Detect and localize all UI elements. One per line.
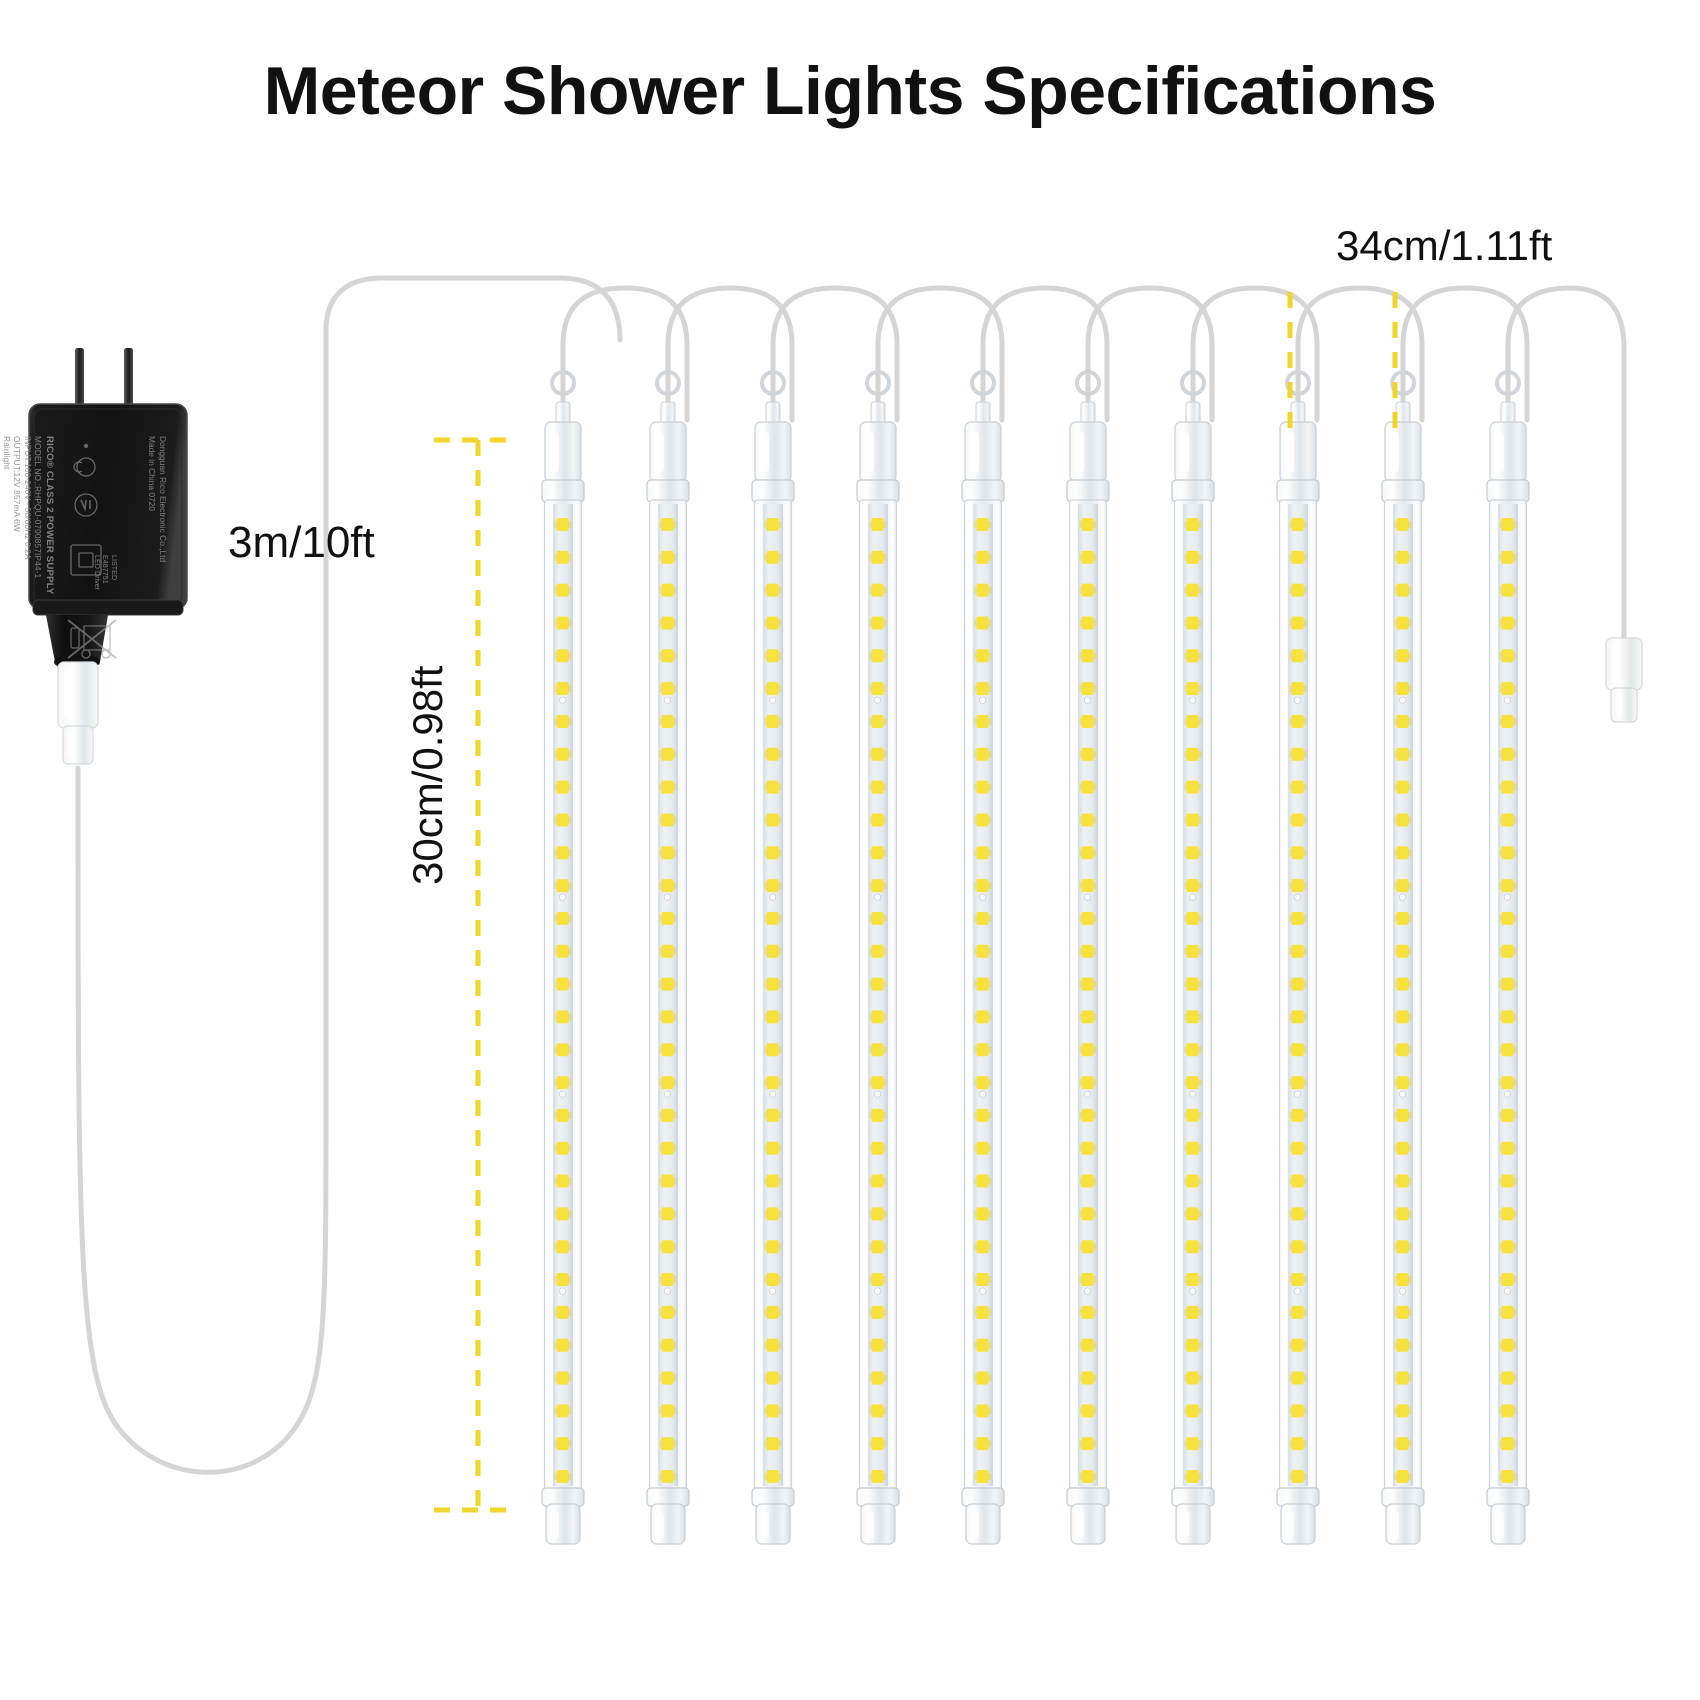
led-chip xyxy=(1397,813,1409,826)
led-chip xyxy=(872,518,884,531)
led-chip xyxy=(872,1142,884,1155)
led-chip xyxy=(977,1372,989,1385)
led-strip-component xyxy=(1189,1288,1195,1294)
led-chip xyxy=(767,1306,779,1319)
end-connector xyxy=(1606,638,1642,722)
led-chip xyxy=(1502,945,1514,958)
led-chip xyxy=(1397,1306,1409,1319)
led-chip xyxy=(1292,1339,1304,1352)
led-chip xyxy=(1292,879,1304,892)
led-chip xyxy=(872,1207,884,1220)
adapter-body xyxy=(29,404,187,609)
led-chip xyxy=(767,1142,779,1155)
led-chip xyxy=(1397,1339,1409,1352)
led-chip xyxy=(557,1240,569,1253)
led-strip-component xyxy=(979,1091,985,1097)
led-chip xyxy=(1187,551,1199,564)
led-chip xyxy=(1502,551,1514,564)
led-chip xyxy=(1502,1043,1514,1056)
led-chip xyxy=(767,748,779,761)
led-chip xyxy=(1187,649,1199,662)
led-strip-component xyxy=(1504,1288,1510,1294)
led-strip-component xyxy=(769,894,775,900)
led-chip xyxy=(1397,1175,1409,1188)
led-chip xyxy=(1187,1207,1199,1220)
led-strip-component xyxy=(1399,1091,1405,1097)
led-strip-component xyxy=(979,894,985,900)
led-chip xyxy=(1187,1175,1199,1188)
led-chip xyxy=(1502,781,1514,794)
led-chip xyxy=(662,1076,674,1089)
led-chip xyxy=(662,715,674,728)
led-chip xyxy=(1292,1404,1304,1417)
led-chip xyxy=(557,879,569,892)
led-chip xyxy=(767,912,779,925)
led-chip xyxy=(1082,1306,1094,1319)
led-strip-component xyxy=(769,1288,775,1294)
led-chip xyxy=(1502,1010,1514,1023)
led-chip xyxy=(557,682,569,695)
led-tube xyxy=(647,372,689,1544)
led-chip xyxy=(662,1273,674,1286)
led-chip xyxy=(1502,1404,1514,1417)
led-chip xyxy=(767,1437,779,1450)
led-chip xyxy=(662,1240,674,1253)
led-chip xyxy=(1187,1273,1199,1286)
led-chip xyxy=(977,649,989,662)
adapter-prong-left xyxy=(75,348,84,410)
led-chip xyxy=(872,945,884,958)
led-chip xyxy=(1502,1372,1514,1385)
led-chip xyxy=(557,912,569,925)
led-strip-component xyxy=(979,1288,985,1294)
led-chip xyxy=(1082,813,1094,826)
cord-length-label: 3m/10ft xyxy=(228,518,375,568)
led-chip xyxy=(767,1372,779,1385)
led-chip xyxy=(1082,649,1094,662)
led-chip xyxy=(1082,715,1094,728)
led-strip-component xyxy=(1294,894,1300,900)
led-chip xyxy=(872,682,884,695)
led-chip xyxy=(1397,551,1409,564)
led-tube xyxy=(1277,372,1319,1544)
led-chip xyxy=(1502,1076,1514,1089)
led-chip xyxy=(557,1076,569,1089)
led-chip xyxy=(1502,1339,1514,1352)
led-chip xyxy=(1292,846,1304,859)
led-chip xyxy=(767,715,779,728)
led-chip xyxy=(662,846,674,859)
led-tube xyxy=(1487,372,1529,1544)
led-chip xyxy=(662,912,674,925)
led-chip xyxy=(1292,1470,1304,1483)
led-chip xyxy=(557,1470,569,1483)
led-strip-component xyxy=(1189,697,1195,703)
led-chip xyxy=(1502,649,1514,662)
led-chip xyxy=(767,813,779,826)
led-chip xyxy=(872,1437,884,1450)
led-chip xyxy=(1082,616,1094,629)
led-chip xyxy=(977,912,989,925)
led-chip xyxy=(1187,1372,1199,1385)
led-chip xyxy=(557,781,569,794)
led-chip xyxy=(1502,518,1514,531)
led-chip xyxy=(872,1043,884,1056)
led-chip xyxy=(872,1404,884,1417)
led-chip xyxy=(767,846,779,859)
led-tube xyxy=(857,372,899,1544)
led-chip xyxy=(557,1404,569,1417)
led-chip xyxy=(977,1240,989,1253)
led-chip xyxy=(1082,846,1094,859)
led-chip xyxy=(1502,748,1514,761)
led-chip xyxy=(557,1043,569,1056)
led-strip-component xyxy=(769,697,775,703)
led-chip xyxy=(1397,1404,1409,1417)
led-tube xyxy=(962,372,1004,1544)
led-chip xyxy=(977,551,989,564)
led-chip xyxy=(977,1043,989,1056)
led-strip-component xyxy=(1084,1091,1090,1097)
led-chip xyxy=(1397,1010,1409,1023)
led-chip xyxy=(977,616,989,629)
led-tube-group xyxy=(542,372,1529,1544)
led-chip xyxy=(662,748,674,761)
led-chip xyxy=(557,846,569,859)
led-chip xyxy=(977,813,989,826)
led-chip xyxy=(557,813,569,826)
led-chip xyxy=(1187,616,1199,629)
led-chip xyxy=(1397,1109,1409,1122)
led-chip xyxy=(662,1109,674,1122)
led-chip xyxy=(1397,715,1409,728)
led-chip xyxy=(977,1076,989,1089)
led-chips xyxy=(555,518,1517,1483)
led-strip-component xyxy=(664,1091,670,1097)
led-chip xyxy=(872,978,884,991)
led-chip xyxy=(977,1404,989,1417)
led-chip xyxy=(1292,1076,1304,1089)
led-chip xyxy=(557,1273,569,1286)
led-chip xyxy=(872,912,884,925)
led-chip xyxy=(1397,584,1409,597)
led-chip xyxy=(557,1437,569,1450)
led-chip xyxy=(872,1076,884,1089)
led-chip xyxy=(1082,1010,1094,1023)
led-chip xyxy=(1292,945,1304,958)
led-chip xyxy=(977,1010,989,1023)
led-strip-component xyxy=(1399,894,1405,900)
led-chip xyxy=(1082,748,1094,761)
led-strip-component xyxy=(559,1091,565,1097)
led-chip xyxy=(557,978,569,991)
led-chip xyxy=(767,616,779,629)
led-chip xyxy=(662,1306,674,1319)
led-chip xyxy=(557,649,569,662)
led-chip xyxy=(557,1109,569,1122)
led-chip xyxy=(1397,912,1409,925)
led-chip xyxy=(872,879,884,892)
led-chip xyxy=(872,551,884,564)
led-chip xyxy=(557,1142,569,1155)
led-chip xyxy=(977,1437,989,1450)
led-chip xyxy=(767,978,779,991)
led-strip-component xyxy=(1399,1288,1405,1294)
led-chip xyxy=(1397,649,1409,662)
led-chip xyxy=(1292,1372,1304,1385)
led-strip-component xyxy=(664,1288,670,1294)
led-strip-component xyxy=(1504,697,1510,703)
led-chip xyxy=(1187,1404,1199,1417)
led-tube xyxy=(1067,372,1109,1544)
led-chip xyxy=(977,1339,989,1352)
led-chip xyxy=(662,879,674,892)
led-chip xyxy=(1292,1010,1304,1023)
led-chip xyxy=(1187,715,1199,728)
led-chip xyxy=(1082,1175,1094,1188)
led-chip xyxy=(1397,616,1409,629)
led-tube xyxy=(1172,372,1214,1544)
led-chip xyxy=(662,1470,674,1483)
led-chip xyxy=(1502,1437,1514,1450)
led-chip xyxy=(1187,978,1199,991)
led-chip xyxy=(1292,1240,1304,1253)
led-chip xyxy=(872,846,884,859)
led-tube xyxy=(1382,372,1424,1544)
led-strip-component xyxy=(664,894,670,900)
led-chip xyxy=(1187,945,1199,958)
tube-length-label: 30cm/0.98ft xyxy=(404,666,452,885)
led-chip xyxy=(1082,1273,1094,1286)
led-chip xyxy=(1082,518,1094,531)
led-chip xyxy=(662,978,674,991)
led-chip xyxy=(557,551,569,564)
led-chip xyxy=(1502,1306,1514,1319)
led-chip xyxy=(1082,945,1094,958)
led-chip xyxy=(1502,846,1514,859)
led-chip xyxy=(1082,1372,1094,1385)
led-chip xyxy=(1502,1207,1514,1220)
led-chip xyxy=(767,1470,779,1483)
led-chip xyxy=(1187,1142,1199,1155)
led-chip xyxy=(1397,1437,1409,1450)
led-chip xyxy=(1082,1240,1094,1253)
led-chip xyxy=(662,551,674,564)
led-chip xyxy=(557,518,569,531)
led-chip xyxy=(1397,682,1409,695)
led-chip xyxy=(1292,1273,1304,1286)
led-chip xyxy=(557,1207,569,1220)
led-chip xyxy=(662,1142,674,1155)
led-strip-component xyxy=(1294,1288,1300,1294)
led-chip xyxy=(1082,978,1094,991)
led-strip-component xyxy=(559,697,565,703)
led-chip xyxy=(662,1043,674,1056)
led-chip xyxy=(662,813,674,826)
led-chip xyxy=(1397,945,1409,958)
led-chip xyxy=(1187,748,1199,761)
led-chip xyxy=(662,518,674,531)
led-chip xyxy=(767,1175,779,1188)
led-chip xyxy=(767,1339,779,1352)
led-chip xyxy=(1292,1437,1304,1450)
led-chip xyxy=(1502,912,1514,925)
led-chip xyxy=(1292,912,1304,925)
led-chip xyxy=(977,1273,989,1286)
led-strip-component xyxy=(874,1091,880,1097)
led-chip xyxy=(977,1142,989,1155)
led-chip xyxy=(767,518,779,531)
led-chip xyxy=(1502,879,1514,892)
led-chip xyxy=(1397,781,1409,794)
led-chip xyxy=(557,616,569,629)
led-chip xyxy=(977,1470,989,1483)
led-chip xyxy=(557,1339,569,1352)
led-chip xyxy=(1082,1076,1094,1089)
led-chip xyxy=(1082,682,1094,695)
led-chip xyxy=(1502,1470,1514,1483)
led-chip xyxy=(1082,1470,1094,1483)
led-chip xyxy=(662,682,674,695)
led-chip xyxy=(977,879,989,892)
led-chip xyxy=(872,781,884,794)
led-chip xyxy=(767,1404,779,1417)
led-chip xyxy=(1502,616,1514,629)
led-chip xyxy=(872,1372,884,1385)
led-chip xyxy=(977,978,989,991)
led-strip-component xyxy=(1084,1288,1090,1294)
led-chip xyxy=(1082,1109,1094,1122)
led-chip xyxy=(1292,781,1304,794)
led-chip xyxy=(1397,518,1409,531)
led-chip xyxy=(1082,1043,1094,1056)
led-chip xyxy=(1187,1043,1199,1056)
led-chip xyxy=(767,1076,779,1089)
power-adapter xyxy=(29,348,187,764)
led-chip xyxy=(872,1175,884,1188)
led-chip xyxy=(1082,1142,1094,1155)
led-chip xyxy=(1292,715,1304,728)
led-chip xyxy=(1397,846,1409,859)
led-chip xyxy=(977,682,989,695)
led-chip xyxy=(1397,1207,1409,1220)
led-chip xyxy=(557,945,569,958)
led-strip-component xyxy=(1189,1091,1195,1097)
led-chip xyxy=(1187,879,1199,892)
led-chip xyxy=(977,1175,989,1188)
led-chip xyxy=(1292,813,1304,826)
led-chip xyxy=(1187,1470,1199,1483)
diagram-canvas: Meteor Shower Lights Specifications xyxy=(0,0,1700,1700)
led-chip xyxy=(1397,1142,1409,1155)
led-chip xyxy=(872,1010,884,1023)
led-chip xyxy=(872,748,884,761)
led-chip xyxy=(1292,551,1304,564)
led-chip xyxy=(557,715,569,728)
led-chip xyxy=(767,551,779,564)
led-tube xyxy=(752,372,794,1544)
led-chip xyxy=(1187,1437,1199,1450)
led-chip xyxy=(767,945,779,958)
led-chip xyxy=(1082,1339,1094,1352)
led-chip xyxy=(767,1010,779,1023)
led-chip xyxy=(1502,813,1514,826)
led-chip xyxy=(767,682,779,695)
led-chip xyxy=(872,649,884,662)
led-chip xyxy=(1502,1273,1514,1286)
led-chip xyxy=(977,518,989,531)
led-chip xyxy=(1292,1207,1304,1220)
led-strip-component xyxy=(1294,697,1300,703)
led-chip xyxy=(767,879,779,892)
led-chip xyxy=(1187,1306,1199,1319)
led-strip-component xyxy=(1084,697,1090,703)
led-strip-component xyxy=(874,894,880,900)
led-chip xyxy=(1292,1043,1304,1056)
led-chip xyxy=(872,1240,884,1253)
led-chip xyxy=(977,1207,989,1220)
led-chip xyxy=(1082,1404,1094,1417)
led-chip xyxy=(767,1240,779,1253)
led-chip xyxy=(1502,715,1514,728)
led-chip xyxy=(977,1109,989,1122)
led-strip-component xyxy=(559,894,565,900)
led-chip xyxy=(662,1010,674,1023)
led-chip xyxy=(557,1372,569,1385)
led-chip xyxy=(662,1437,674,1450)
led-chip xyxy=(872,584,884,597)
led-chip xyxy=(767,781,779,794)
led-chip xyxy=(662,1372,674,1385)
led-strip-component xyxy=(559,1288,565,1294)
led-chip xyxy=(1397,748,1409,761)
led-chip xyxy=(1082,912,1094,925)
led-chip xyxy=(977,584,989,597)
tube-spacing-label: 34cm/1.11ft xyxy=(1336,222,1552,270)
led-chip xyxy=(977,1306,989,1319)
led-chip xyxy=(1187,682,1199,695)
led-chip xyxy=(662,1339,674,1352)
led-strip-component xyxy=(1504,1091,1510,1097)
led-chip xyxy=(1292,518,1304,531)
led-chip xyxy=(977,748,989,761)
led-chip xyxy=(872,1273,884,1286)
led-chip xyxy=(1397,1273,1409,1286)
led-chip xyxy=(1502,584,1514,597)
led-chip xyxy=(767,649,779,662)
led-chip xyxy=(557,1306,569,1319)
led-chip xyxy=(1187,813,1199,826)
led-tube xyxy=(542,372,584,1544)
led-chip xyxy=(662,1404,674,1417)
led-chip xyxy=(1187,1109,1199,1122)
led-chip xyxy=(1292,682,1304,695)
led-chip xyxy=(1397,1240,1409,1253)
led-chip xyxy=(977,846,989,859)
led-chip xyxy=(1187,781,1199,794)
led-chip xyxy=(557,1010,569,1023)
led-chip xyxy=(1187,1076,1199,1089)
led-chip xyxy=(662,1175,674,1188)
led-chip xyxy=(1082,584,1094,597)
led-chip xyxy=(1292,649,1304,662)
led-chip xyxy=(1502,682,1514,695)
led-chip xyxy=(1082,1207,1094,1220)
led-chip xyxy=(977,715,989,728)
led-chip xyxy=(1397,1043,1409,1056)
led-chip xyxy=(662,616,674,629)
led-chip xyxy=(662,584,674,597)
